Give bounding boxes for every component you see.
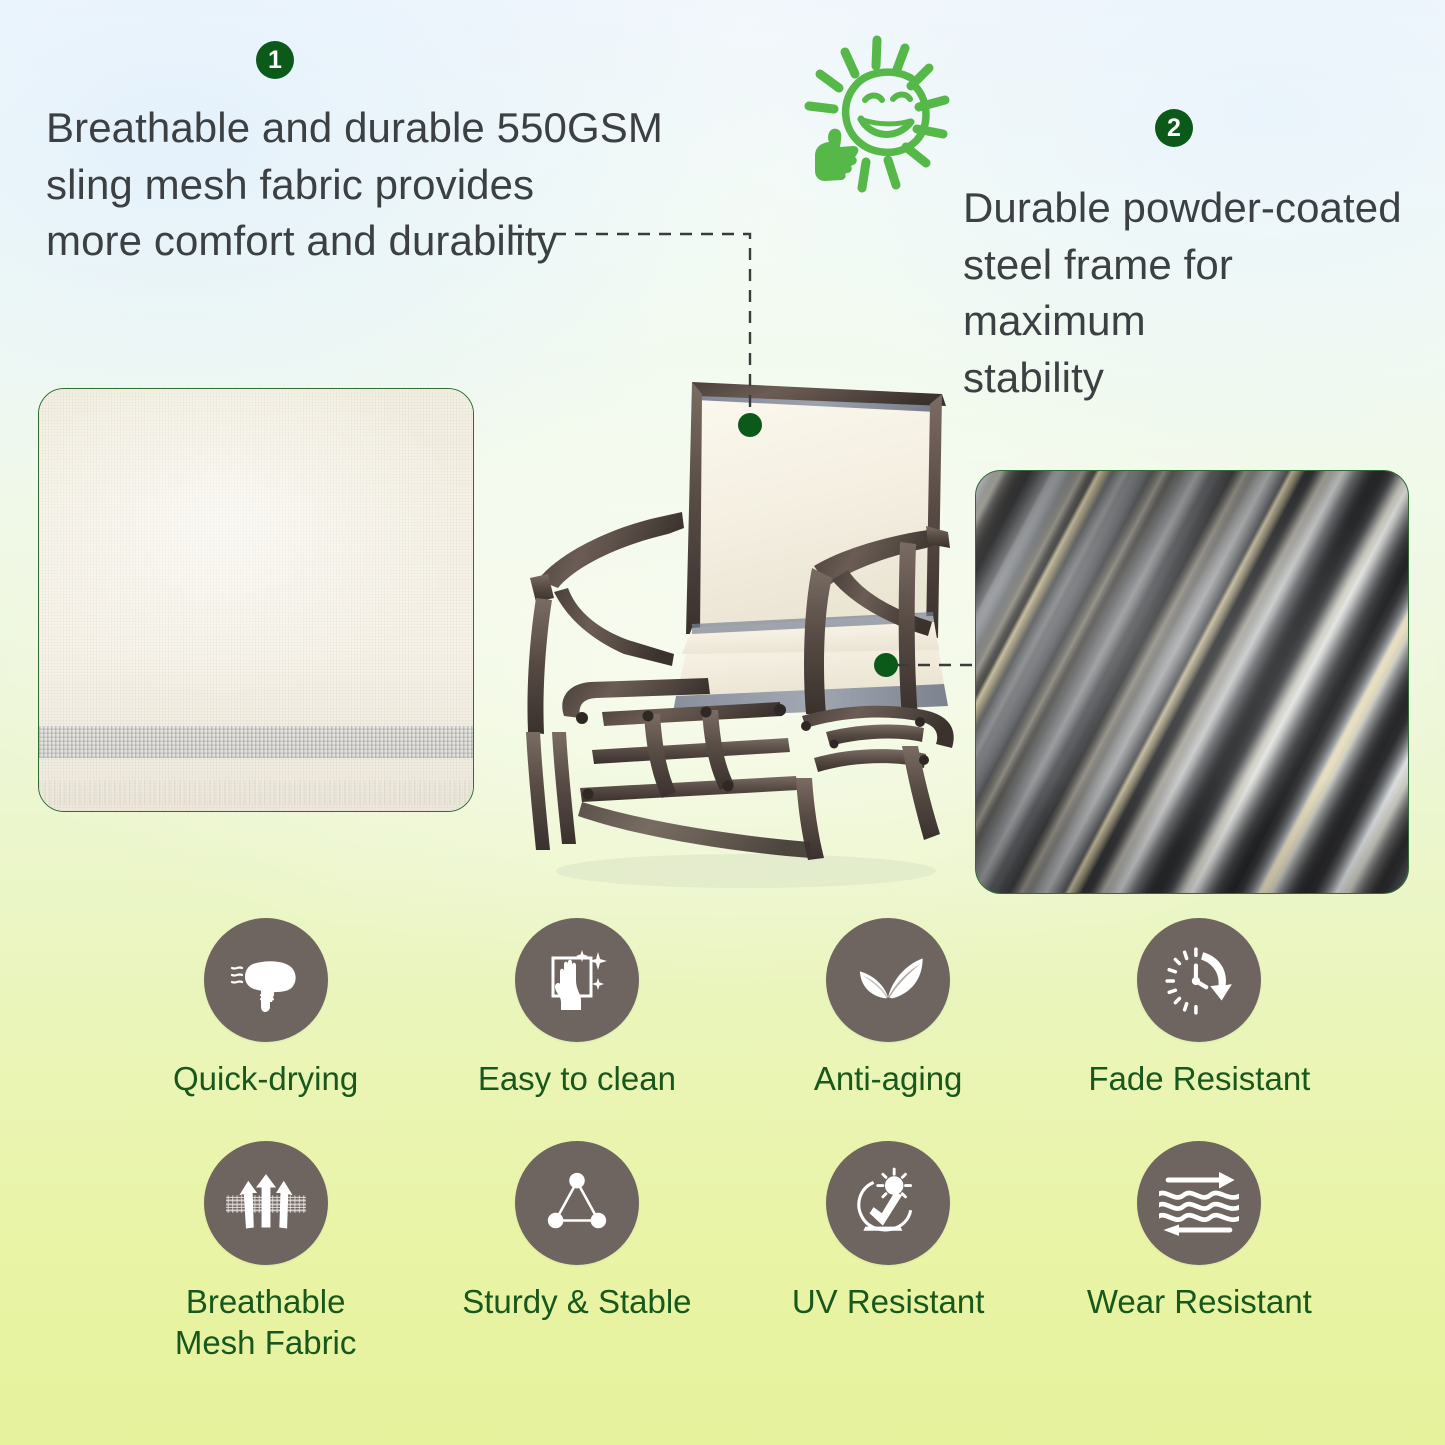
feature-icon-grid: Quick-drying Easy to clean [110,918,1355,1363]
fabric-highlight [39,389,473,811]
callout-text-1: Breathable and durable 550GSM sling mesh… [46,100,666,270]
steel-frame-closeup-panel [975,470,1409,894]
feature-label: UV Resistant [792,1282,985,1322]
callout-text-2: Durable powder-coated steel frame for ma… [963,180,1413,407]
callout-badge-2: 2 [1155,109,1193,147]
feature-label: Anti-aging [814,1059,963,1099]
feature-anti-aging: Anti-aging [733,918,1044,1099]
feature-label: Sturdy & Stable [462,1282,691,1322]
feature-label: Easy to clean [478,1059,676,1099]
feature-sturdy-stable: Sturdy & Stable [421,1141,732,1363]
hair-dryer-icon [204,918,328,1042]
mesh-airflow-arrows-icon [204,1141,328,1265]
feature-label: Wear Resistant [1087,1282,1312,1322]
sun-checkmark-icon [826,1141,950,1265]
happy-sun-thumbs-up-icon [793,30,973,200]
hand-wiping-cloth-icon [515,918,639,1042]
callout-badge-1: 1 [256,41,294,79]
feature-uv-resistant: UV Resistant [733,1141,1044,1363]
clock-arrow-icon [1137,918,1261,1042]
leaves-sprout-icon [826,918,950,1042]
feature-label: Fade Resistant [1088,1059,1310,1099]
triangle-nodes-icon [515,1141,639,1265]
waves-arrows-icon [1137,1141,1261,1265]
feature-easy-to-clean: Easy to clean [421,918,732,1099]
infographic-canvas: 1 2 Breathable and durable 550GSM sling … [0,0,1445,1445]
feature-label: Breathable Mesh Fabric [175,1282,357,1363]
fabric-closeup-panel [38,388,474,812]
steel-vignette [976,471,1408,893]
glider-chair-illustration [496,366,986,896]
callout-dot-2 [874,653,898,677]
feature-label: Quick-drying [173,1059,358,1099]
callout-dot-1 [738,413,762,437]
feature-quick-drying: Quick-drying [110,918,421,1099]
feature-breathable-mesh-fabric: Breathable Mesh Fabric [110,1141,421,1363]
feature-fade-resistant: Fade Resistant [1044,918,1355,1099]
feature-wear-resistant: Wear Resistant [1044,1141,1355,1363]
